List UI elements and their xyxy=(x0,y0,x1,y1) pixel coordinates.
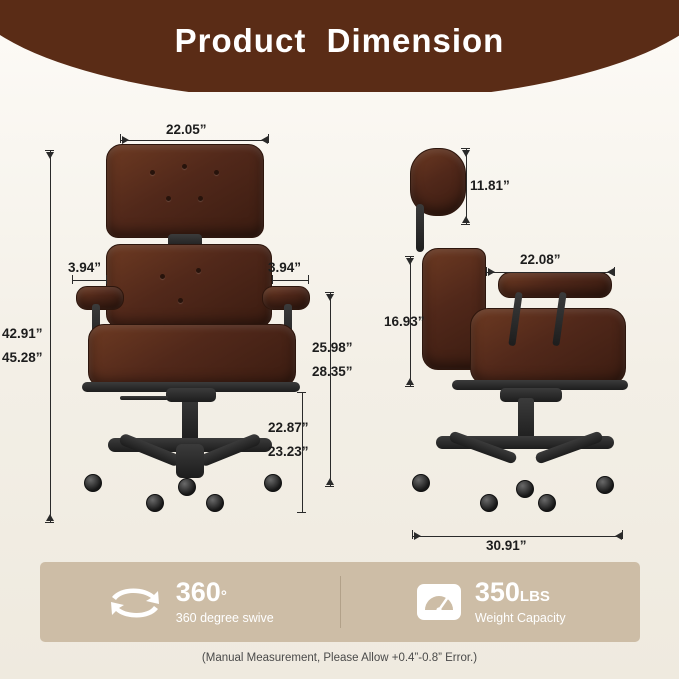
weight-value: 350LBS xyxy=(475,579,566,606)
front-seat-height-label-2: 23.23” xyxy=(268,444,309,459)
caster-wheel xyxy=(516,480,534,498)
front-chair-lower-back xyxy=(106,244,272,328)
caster-wheel xyxy=(178,478,196,496)
swivel-arrows-icon xyxy=(106,582,164,622)
caster-wheel xyxy=(146,494,164,512)
front-chair-backrest xyxy=(106,144,264,238)
side-depth-label: 22.08” xyxy=(520,252,561,267)
weight-scale-icon xyxy=(415,580,463,624)
feature-bar: 360° 360 degree swive 350LBS Weight Capa… xyxy=(40,562,640,642)
front-armrest-left-label: 3.94” xyxy=(68,260,101,275)
front-back-height-line xyxy=(330,292,331,486)
front-back-height-label-1: 25.98” xyxy=(312,340,353,355)
front-overall-height-label-1: 42.91” xyxy=(2,326,43,341)
page-title: Product Dimension xyxy=(0,22,679,60)
caster-wheel xyxy=(480,494,498,512)
side-headrest-height-label: 11.81” xyxy=(470,178,510,193)
front-overall-height-label-2: 45.28” xyxy=(2,350,43,365)
caster-wheel xyxy=(412,474,430,492)
weight-label: Weight Capacity xyxy=(475,611,566,625)
caster-wheel xyxy=(264,474,282,492)
front-chair-armrest-left xyxy=(76,286,124,310)
caster-wheel xyxy=(538,494,556,512)
front-back-height-label-2: 28.35” xyxy=(312,364,353,379)
header-banner: Product Dimension xyxy=(0,0,679,92)
front-width-line xyxy=(120,140,268,141)
side-backrest-height-label: 16.93” xyxy=(384,314,425,329)
front-armrest-right-label: 3.94” xyxy=(268,260,301,275)
feature-weight: 350LBS Weight Capacity xyxy=(341,579,641,625)
side-depth-line xyxy=(486,272,614,273)
side-headrest-height-line xyxy=(466,148,467,224)
caster-wheel xyxy=(84,474,102,492)
caster-wheel xyxy=(206,494,224,512)
swivel-value: 360° xyxy=(176,579,274,606)
feature-swivel: 360° 360 degree swive xyxy=(40,579,340,625)
caster-wheel xyxy=(596,476,614,494)
front-width-label: 22.05” xyxy=(166,122,207,137)
side-base-depth-line xyxy=(412,536,622,537)
side-base-depth-label: 30.91” xyxy=(486,538,527,553)
product-dimension-page: Product Dimension xyxy=(0,0,679,679)
illustration-stage: 22.05” 3.94” 3.94” 42.91” 45.28” 25.98” … xyxy=(0,92,679,554)
front-seat-height-label-1: 22.87” xyxy=(268,420,309,435)
swivel-label: 360 degree swive xyxy=(176,611,274,625)
measurement-footnote: (Manual Measurement, Please Allow +0.4”-… xyxy=(0,652,679,664)
front-chair-seat xyxy=(88,324,296,388)
side-chair-seat xyxy=(470,308,626,386)
front-overall-height-line xyxy=(50,150,51,522)
